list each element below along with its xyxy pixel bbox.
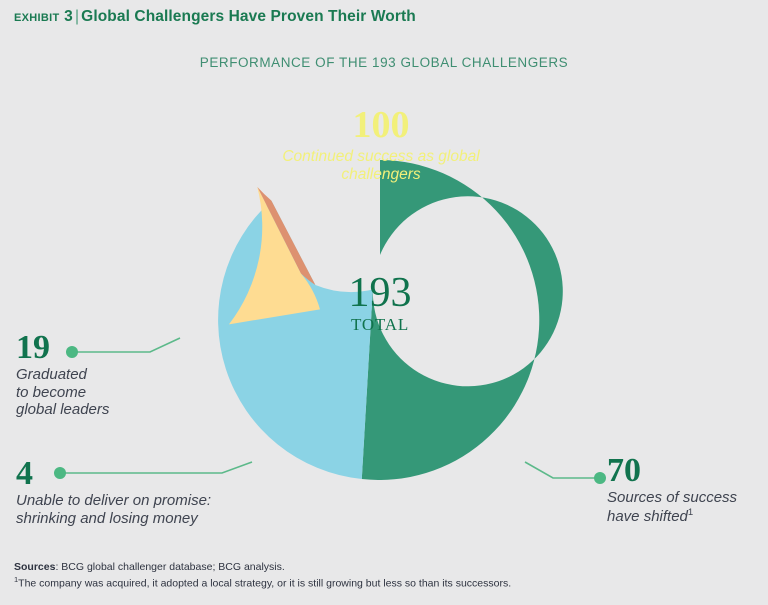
sources-label: Sources <box>14 561 55 573</box>
callout-graduated: 19 Graduated to become global leaders <box>16 332 109 419</box>
callout-value-4: 4 <box>16 458 211 490</box>
callout-unable: 4 Unable to deliver on promise: shrinkin… <box>16 458 211 527</box>
callout-description-19: Graduated to become global leaders <box>16 366 109 419</box>
callout-description-4: Unable to deliver on promise: shrinking … <box>16 492 211 527</box>
footer-notes: Sources: BCG global challenger database;… <box>14 560 758 592</box>
callout-value-19: 19 <box>16 332 109 364</box>
sources-line: Sources: BCG global challenger database;… <box>14 560 758 575</box>
footnote-line: 1The company was acquired, it adopted a … <box>14 575 758 592</box>
segment-sources-shifted <box>218 201 373 479</box>
footnote-marker-70: 1 <box>688 507 693 518</box>
leader-line-shifted <box>525 462 600 478</box>
callout-description-70: Sources of success have shifted1 <box>607 489 737 525</box>
callout-description-70-text: Sources of success have shifted <box>607 489 737 525</box>
footnote-text: The company was acquired, it adopted a l… <box>18 578 511 590</box>
leader-dot-shifted <box>594 472 606 484</box>
donut-segments <box>218 160 563 480</box>
sources-text: : BCG global challenger database; BCG an… <box>55 561 284 573</box>
callout-value-70: 70 <box>607 455 737 487</box>
callout-sources-shifted: 70 Sources of success have shifted1 <box>607 455 737 525</box>
segment-continued-success <box>362 160 563 480</box>
